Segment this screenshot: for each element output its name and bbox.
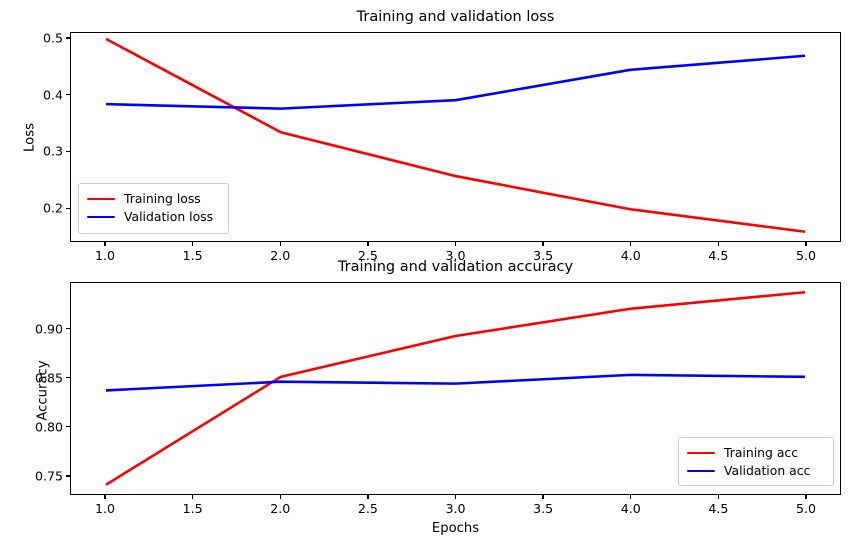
training-loss-color-swatch (87, 198, 115, 201)
y-tick-label: 0.75 (17, 468, 63, 483)
training-loss-legend-label: Training loss (124, 193, 201, 205)
y-tick-label: 0.4 (17, 87, 63, 102)
x-tick-mark (367, 242, 368, 246)
accuracy-chart-title: Training and validation accuracy (70, 259, 841, 275)
loss-chart-title: Training and validation loss (70, 9, 841, 25)
validation-acc-color-swatch (687, 470, 715, 473)
validation-loss-legend-label: Validation loss (124, 211, 213, 223)
x-tick-mark (104, 242, 105, 246)
x-tick-label: 5.0 (778, 501, 834, 516)
y-tick-mark (66, 151, 70, 152)
y-tick-mark (66, 475, 70, 476)
accuracy-x-axis-label: Epochs (70, 521, 841, 536)
y-tick-label: 0.5 (17, 30, 63, 45)
x-tick-mark (104, 495, 105, 499)
x-tick-mark (542, 242, 543, 246)
x-tick-mark (455, 495, 456, 499)
x-tick-mark (280, 495, 281, 499)
x-tick-mark (367, 495, 368, 499)
training-acc-color-swatch (687, 452, 715, 455)
x-tick-mark (805, 242, 806, 246)
matplotlib-figure: Training and validation loss Loss 0.20.3… (0, 0, 855, 547)
x-tick-label: 2.5 (340, 501, 396, 516)
legend-entry-validation-loss: Validation loss (87, 208, 219, 226)
x-tick-label: 4.5 (690, 501, 746, 516)
y-tick-label: 0.2 (17, 201, 63, 216)
x-tick-label: 3.0 (428, 501, 484, 516)
y-tick-mark (66, 426, 70, 427)
y-tick-label: 0.85 (17, 370, 63, 385)
loss-y-axis-label: Loss (23, 98, 38, 178)
x-tick-label: 1.0 (77, 501, 133, 516)
y-tick-mark (66, 94, 70, 95)
x-tick-mark (192, 495, 193, 499)
series-line (106, 56, 805, 109)
series-line (106, 375, 805, 391)
x-tick-mark (630, 495, 631, 499)
x-tick-label: 4.0 (603, 501, 659, 516)
validation-acc-legend-label: Validation acc (724, 465, 810, 477)
training-acc-legend-label: Training acc (724, 447, 798, 459)
y-tick-label: 0.80 (17, 419, 63, 434)
validation-loss-color-swatch (87, 216, 115, 219)
y-tick-label: 0.90 (17, 321, 63, 336)
y-tick-mark (66, 208, 70, 209)
x-tick-label: 3.5 (515, 501, 571, 516)
x-tick-mark (718, 495, 719, 499)
x-tick-mark (280, 242, 281, 246)
x-tick-label: 1.5 (165, 501, 221, 516)
loss-legend: Training loss Validation loss (78, 183, 229, 234)
y-tick-mark (66, 328, 70, 329)
x-tick-label: 2.0 (252, 501, 308, 516)
y-tick-label: 0.3 (17, 144, 63, 159)
y-tick-mark (66, 377, 70, 378)
x-tick-mark (192, 242, 193, 246)
legend-entry-training-acc: Training acc (687, 444, 824, 462)
legend-entry-training-loss: Training loss (87, 190, 219, 208)
x-tick-mark (455, 242, 456, 246)
x-tick-mark (805, 495, 806, 499)
x-tick-mark (630, 242, 631, 246)
x-tick-mark (718, 242, 719, 246)
y-tick-mark (66, 37, 70, 38)
accuracy-legend: Training acc Validation acc (678, 437, 834, 486)
legend-entry-validation-acc: Validation acc (687, 462, 824, 480)
x-tick-mark (542, 495, 543, 499)
